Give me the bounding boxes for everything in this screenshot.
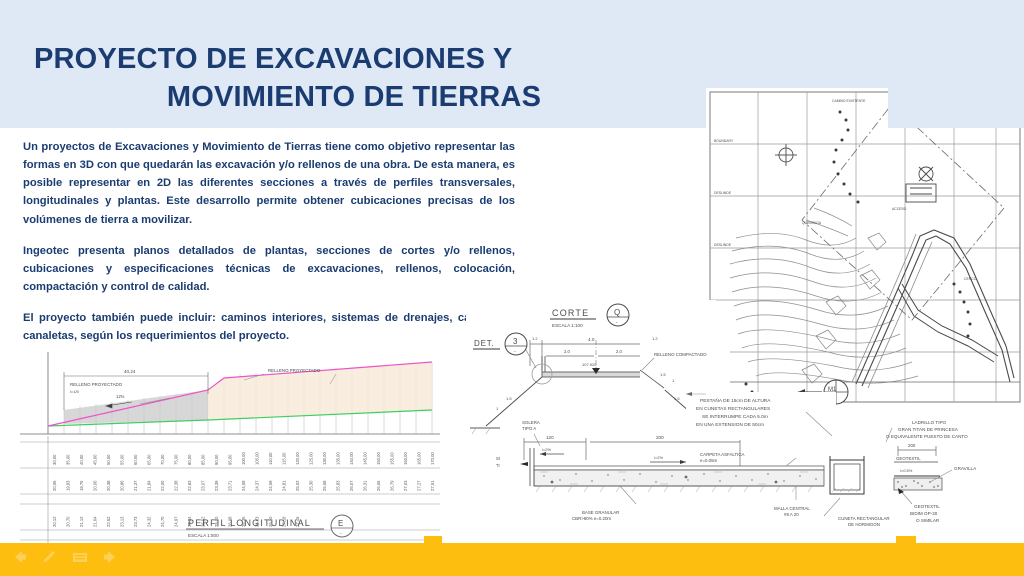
- perfil-station-value: 100,00: [241, 452, 246, 465]
- perfil-station-value: 80,00: [187, 454, 192, 465]
- slide-root: PROYECTO DE EXCAVACIONES Y MOVIMIENTO DE…: [0, 0, 1024, 576]
- perfil-station-value: 50,00: [106, 454, 111, 465]
- note-geotextil-top: GEOTEXTIL: [896, 456, 921, 461]
- perfil-station-value: 120,00: [295, 452, 300, 465]
- cuneta-slope-a: i=2%: [542, 447, 551, 452]
- perfil-station-value: 160,00: [403, 452, 408, 465]
- svg-text:QUEBRADA: QUEBRADA: [802, 221, 822, 225]
- perfil-terrain-value: 20,86: [120, 480, 125, 491]
- perfil-longitudinal-drawing: 40,24 RELLENO PROYECTADO i=1/5 12% RELLE…: [20, 348, 440, 544]
- note-cuneta-line2: DE HORMIGON: [848, 522, 880, 527]
- perfil-station-value: 165,00: [417, 452, 422, 465]
- perfil-title: PERFIL LONGITUDINAL: [188, 518, 311, 528]
- corte-title: CORTE: [552, 308, 589, 318]
- perfil-terrain-value: 27,51: [430, 480, 435, 491]
- perfil-terrain-value: 19,76: [79, 480, 84, 491]
- corte-scale: ESCALA 1:100: [552, 323, 583, 328]
- perfil-terrain-value: 22,38: [174, 480, 179, 491]
- body-copy: Un proyectos de Excavaciones y Movimient…: [23, 138, 515, 345]
- perfil-terrain-value: 20,06: [52, 480, 57, 491]
- perfil-terrain-value: 25,02: [295, 480, 300, 491]
- perfil-project-value: 24,70: [160, 516, 165, 527]
- perfil-dim-total: 40,24: [124, 369, 136, 374]
- perfil-callout-1: RELLENO PROYECTADO: [70, 382, 123, 387]
- perfil-station-value: 55,00: [120, 454, 125, 465]
- svg-text:CERCO: CERCO: [964, 277, 977, 281]
- cuneta-dim-200: 200: [656, 435, 664, 440]
- perfil-project-value: 23,73: [133, 516, 138, 527]
- svg-text:3: 3: [513, 337, 518, 346]
- back-arrow-icon[interactable]: [12, 550, 28, 564]
- perfil-station-value: 40,00: [79, 454, 84, 465]
- perfil-station-value: 140,00: [349, 452, 354, 465]
- perfil-project-value: 21,12: [79, 516, 84, 527]
- note-carpeta-line1: CARPETA ASFALTICA: [700, 452, 745, 457]
- perfil-terrain-value: 26,55: [376, 480, 381, 491]
- corte-dim-edge-left: 1.2: [532, 336, 538, 341]
- perfil-station-value: 90,00: [214, 454, 219, 465]
- perfil-terrain-value: 23,07: [201, 480, 206, 491]
- corte-dim-right: 2.0: [616, 349, 622, 354]
- perfil-terrain-value: 22,00: [160, 480, 165, 491]
- cuneta-dim-120: 120: [546, 435, 554, 440]
- note-pestana-line1: PESTAÑA DE 15cm DE ALTURA: [700, 397, 771, 404]
- perfil-station-value: 145,00: [363, 452, 368, 465]
- perfil-station-value: 35,00: [66, 454, 71, 465]
- site-plan-drawing: CAMINO EXISTENTE BOUNDARY DESLINDE DESLI…: [706, 88, 1024, 406]
- cuneta-slope-c: i=0.5%: [900, 468, 913, 473]
- perfil-project-value: 20,12: [52, 516, 57, 527]
- relleno-compactado-note: RELLENO COMPACTADO 1.5 1: [640, 340, 730, 390]
- perfil-dim-slope: 12%: [116, 394, 125, 399]
- page-title-line1: PROYECTO DE EXCAVACIONES Y: [34, 41, 674, 78]
- note-relleno-compactado: RELLENO COMPACTADO: [654, 352, 707, 357]
- corte-dim-total: 4.0: [588, 337, 595, 342]
- perfil-terrain-value: 26,07: [349, 480, 354, 491]
- perfil-scale: ESCALA 1:500: [188, 533, 219, 538]
- corte-slope-right: 1.5: [674, 396, 680, 401]
- perfil-station-value: 30,00: [52, 454, 57, 465]
- perfil-project-value: 24,32: [147, 516, 152, 527]
- perfil-terrain-value: 20,38: [106, 480, 111, 491]
- perfil-terrain-value: 22,83: [187, 480, 192, 491]
- perfil-project-value: 20,70: [66, 516, 71, 527]
- perfil-station-value: 60,00: [133, 454, 138, 465]
- perfil-terrain-value: 24,59: [268, 480, 273, 491]
- pencil-icon[interactable]: [42, 550, 58, 564]
- header-band-right: [888, 0, 1024, 128]
- perfil-station-value: 45,00: [93, 454, 98, 465]
- perfil-project-value: 23,13: [120, 516, 125, 527]
- perfil-terrain-value: 25,30: [309, 480, 314, 491]
- svg-text:BOUNDARY: BOUNDARY: [714, 139, 734, 143]
- svg-text:Q: Q: [614, 308, 620, 317]
- perfil-station-value: 70,00: [160, 454, 165, 465]
- note-cuneta-line1: CUNETA RECTANGULAR: [838, 516, 890, 521]
- note-ladrillo-line1: LADRILLO TIPO: [912, 420, 947, 425]
- perfil-callout-2: RELLENO PROYECTADO: [268, 368, 321, 373]
- note-carpeta-line2: e=0.05m: [700, 458, 718, 463]
- perfil-station-value: 75,00: [174, 454, 179, 465]
- corte-dim-left: 2.0: [564, 349, 570, 354]
- cuneta-dim-200b: 200: [908, 443, 916, 448]
- corte-level: 107.920: [582, 362, 597, 367]
- note-pestana-line3: SE INTERRUMPE CADA 5.0m: [702, 414, 768, 420]
- perfil-terrain-value: 20,06: [93, 480, 98, 491]
- paragraph-2: Ingeotec presenta planos detallados de p…: [23, 242, 515, 296]
- perfil-callout-1-sub: i=1/5: [70, 389, 80, 394]
- note-pestana-line4: EN UNA EXTENSION DE 50cm: [696, 422, 764, 428]
- page-title: PROYECTO DE EXCAVACIONES Y MOVIMIENTO DE…: [34, 41, 674, 115]
- forward-arrow-icon[interactable]: [102, 550, 118, 564]
- svg-text:CAMINO EXISTENTE: CAMINO EXISTENTE: [832, 99, 866, 103]
- perfil-station-value: 85,00: [201, 454, 206, 465]
- perfil-terrain-value: 24,08: [241, 480, 246, 491]
- perfil-terrain-value: 19,83: [66, 480, 71, 491]
- note-ladrillo-line3: O EQUIVALENTE PUESTO DE CANTO: [886, 434, 968, 439]
- svg-text:DESLINDE: DESLINDE: [714, 243, 732, 247]
- footer-bar: [0, 543, 1024, 576]
- perfil-station-value: 65,00: [147, 454, 152, 465]
- perfil-terrain-value: 24,81: [282, 480, 287, 491]
- perfil-station-value: 115,00: [282, 452, 287, 465]
- perfil-station-value: 105,00: [255, 452, 260, 465]
- note-geotextil-line1: GEOTEXTIL: [914, 504, 940, 509]
- page-title-line2: MOVIMIENTO DE TIERRAS: [34, 79, 674, 116]
- perfil-terrain-value: 26,79: [390, 480, 395, 491]
- corte-slope-left: 1.5: [506, 396, 512, 401]
- note-malla-line2: #8 A 20: [784, 512, 799, 517]
- svg-text:DET.: DET.: [474, 339, 495, 348]
- perfil-terrain-value: 27,27: [417, 480, 422, 491]
- perfil-terrain-value: 25,83: [336, 480, 341, 491]
- note-base-line1: BASE GRANULAR: [582, 510, 619, 515]
- perfil-station-value: 125,00: [309, 452, 314, 465]
- perfil-terrain-value: 25,58: [322, 480, 327, 491]
- perfil-station-value: 170,00: [430, 452, 435, 465]
- perfil-terrain-value: 21,37: [133, 480, 138, 491]
- perfil-terrain-value: 23,39: [214, 480, 219, 491]
- note-geotextil-line2: BIDIM OP-20: [910, 511, 938, 516]
- perfil-terrain-value: 23,71: [228, 480, 233, 491]
- note-gravilla: GRAVILLA: [954, 466, 977, 471]
- note-solera-line2: TIPO A: [522, 426, 536, 431]
- perfil-terrain-value: 21,84: [147, 480, 152, 491]
- perfil-terrain-value: 24,37: [255, 480, 260, 491]
- svg-text:ACCESO: ACCESO: [892, 207, 907, 211]
- svg-text:DESLINDE: DESLINDE: [714, 191, 732, 195]
- pestana-note: PESTAÑA DE 15cm DE ALTURA EN CUNETAS REC…: [686, 392, 836, 440]
- paragraph-1: Un proyectos de Excavaciones y Movimient…: [23, 138, 515, 229]
- perfil-terrain-value: 27,03: [403, 480, 408, 491]
- perfil-project-value: 24,97: [174, 516, 179, 527]
- paragraph-3: El proyecto también puede incluir: camin…: [23, 309, 515, 345]
- perfil-station-value: 135,00: [336, 452, 341, 465]
- perfil-station-value: 110,00: [268, 452, 273, 465]
- perfil-sheet-mark: E: [338, 519, 343, 528]
- svg-text:1: 1: [672, 378, 675, 383]
- svg-text:1.5: 1.5: [660, 372, 666, 377]
- perfil-station-value: 150,00: [376, 452, 381, 465]
- note-solera-line1: SOLERA: [522, 420, 540, 425]
- cuneta-slope-b: i=2%: [654, 455, 663, 460]
- perfil-terrain-value: 26,31: [363, 480, 368, 491]
- slides-icon[interactable]: [72, 550, 88, 564]
- perfil-project-value: 21,64: [93, 516, 98, 527]
- footer-icon-group: [12, 550, 118, 564]
- note-ladrillo-line2: GRAN TITAN DE PRINCESA: [898, 427, 959, 432]
- note-base-line2: CBR>80% e=0.20m: [572, 516, 611, 521]
- perfil-station-value: 95,00: [228, 454, 233, 465]
- perfil-project-value: 22,62: [106, 516, 111, 527]
- perfil-station-value: 130,00: [322, 452, 327, 465]
- perfil-station-value: 155,00: [390, 452, 395, 465]
- note-pestana-line2: EN CUNETAS RECTANGULARES: [696, 406, 770, 412]
- note-geotextil-line3: O SIMILAR: [916, 518, 940, 523]
- note-malla-line1: MALLA CENTRAL: [774, 506, 810, 511]
